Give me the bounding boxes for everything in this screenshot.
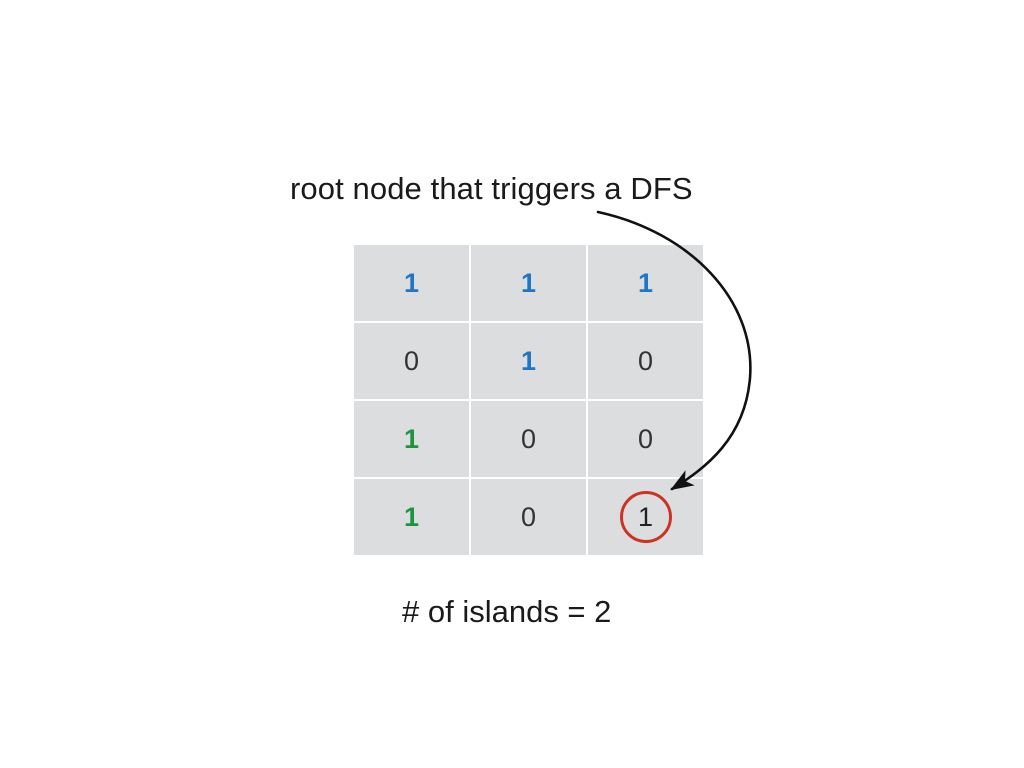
slide-canvas: root node that triggers a DFS 1110101001… bbox=[0, 0, 1024, 768]
matrix-cell-value: 0 bbox=[638, 348, 653, 375]
matrix-cell-r1-c2[interactable]: 1 bbox=[471, 245, 588, 323]
matrix-cell-value: 1 bbox=[404, 270, 419, 297]
matrix-cell-r2-c3[interactable]: 0 bbox=[588, 323, 703, 401]
matrix-cell-r1-c1[interactable]: 1 bbox=[354, 245, 471, 323]
matrix-cell-value: 1 bbox=[521, 348, 536, 375]
matrix-cell-r3-c2[interactable]: 0 bbox=[471, 401, 588, 479]
matrix-table: 111010100101 bbox=[354, 245, 703, 555]
matrix-cell-value: 0 bbox=[638, 426, 653, 453]
matrix-row: 101 bbox=[354, 479, 703, 555]
matrix-cell-value: 1 bbox=[404, 426, 419, 453]
matrix-cell-r4-c2[interactable]: 0 bbox=[471, 479, 588, 555]
matrix-row: 111 bbox=[354, 245, 703, 323]
island-grid: 111010100101 bbox=[354, 245, 700, 549]
matrix-cell-r4-c3[interactable]: 1 bbox=[588, 479, 703, 555]
matrix-cell-value: 0 bbox=[521, 426, 536, 453]
matrix-cell-value: 1 bbox=[521, 270, 536, 297]
matrix-row: 100 bbox=[354, 401, 703, 479]
matrix-cell-r1-c3[interactable]: 1 bbox=[588, 245, 703, 323]
matrix-cell-r2-c2[interactable]: 1 bbox=[471, 323, 588, 401]
matrix-cell-value: 0 bbox=[404, 348, 419, 375]
matrix-cell-r3-c1[interactable]: 1 bbox=[354, 401, 471, 479]
matrix-cell-r4-c1[interactable]: 1 bbox=[354, 479, 471, 555]
matrix-cell-value: 1 bbox=[638, 504, 653, 531]
matrix-cell-value: 0 bbox=[521, 504, 536, 531]
annotation-label: root node that triggers a DFS bbox=[290, 169, 693, 209]
islands-count-caption: # of islands = 2 bbox=[402, 592, 611, 632]
matrix-row: 010 bbox=[354, 323, 703, 401]
matrix-cell-value: 1 bbox=[404, 504, 419, 531]
matrix-cell-value: 1 bbox=[638, 270, 653, 297]
matrix-cell-r2-c1[interactable]: 0 bbox=[354, 323, 471, 401]
matrix-cell-r3-c3[interactable]: 0 bbox=[588, 401, 703, 479]
matrix-body: 111010100101 bbox=[354, 245, 703, 555]
